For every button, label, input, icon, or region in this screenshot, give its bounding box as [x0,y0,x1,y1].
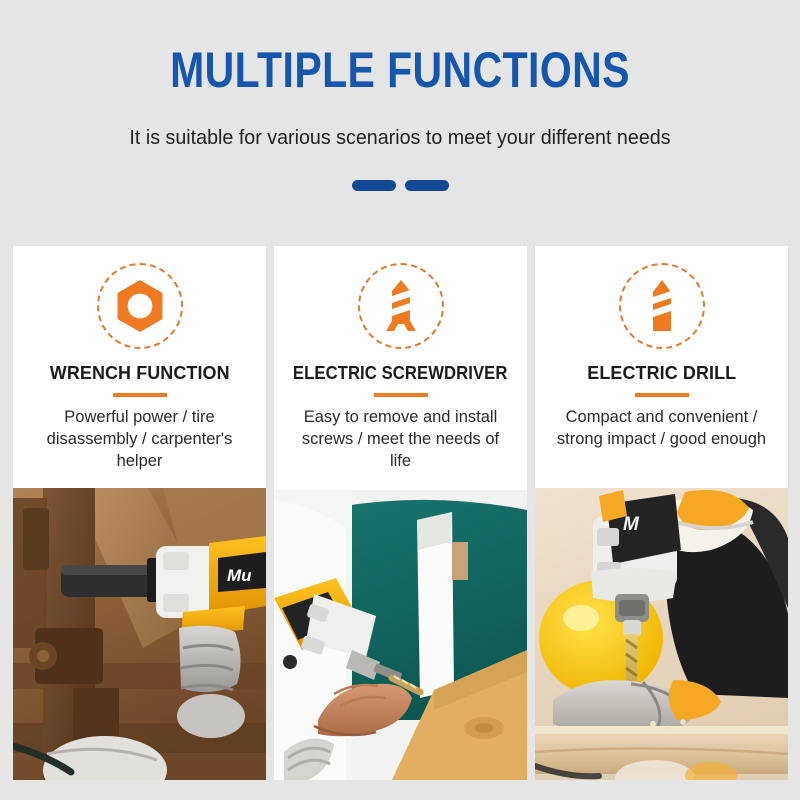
divider-dash-2 [405,180,449,191]
header-section: MULTIPLE FUNCTIONS It is suitable for va… [0,0,800,191]
feature-card-screwdriver-body: ELECTRIC SCREWDRIVER Easy to remove and … [274,246,527,490]
feature-card-screwdriver-title: ELECTRIC SCREWDRIVER [293,349,508,384]
screwdriver-bit-icon [358,263,444,349]
feature-cards-row: WRENCH FUNCTION Powerful power / tire di… [13,246,788,780]
screwdriver-on-wood-plank-photo [274,490,527,780]
feature-card-screwdriver[interactable]: ELECTRIC SCREWDRIVER Easy to remove and … [274,246,527,780]
feature-card-wrench-body: WRENCH FUNCTION Powerful power / tire di… [13,246,266,488]
impact-wrench-on-rusty-machinery-photo: Mu [13,488,266,780]
divider [0,150,800,191]
page-subtitle: It is suitable for various scenarios to … [16,96,784,150]
feature-card-drill[interactable]: ELECTRIC DRILL Compact and convenient / … [535,246,788,780]
feature-card-wrench-description: Powerful power / tire disassembly / carp… [13,397,266,472]
feature-card-screwdriver-description: Easy to remove and install screws / meet… [274,397,527,472]
svg-text:M: M [623,514,640,535]
page-title: MULTIPLE FUNCTIONS [72,44,728,96]
svg-text:Mu: Mu [227,566,252,585]
feature-card-drill-body: ELECTRIC DRILL Compact and convenient / … [535,246,788,488]
hex-nut-icon [97,263,183,349]
feature-card-wrench-title: WRENCH FUNCTION [50,349,230,384]
feature-card-drill-description: Compact and convenient / strong impact /… [535,397,788,450]
feature-card-wrench[interactable]: WRENCH FUNCTION Powerful power / tire di… [13,246,266,780]
divider-dash-1 [352,180,396,191]
feature-card-drill-title: ELECTRIC DRILL [587,349,736,384]
drill-bit-icon [619,263,705,349]
drill-into-timber-photo: M [535,488,788,780]
